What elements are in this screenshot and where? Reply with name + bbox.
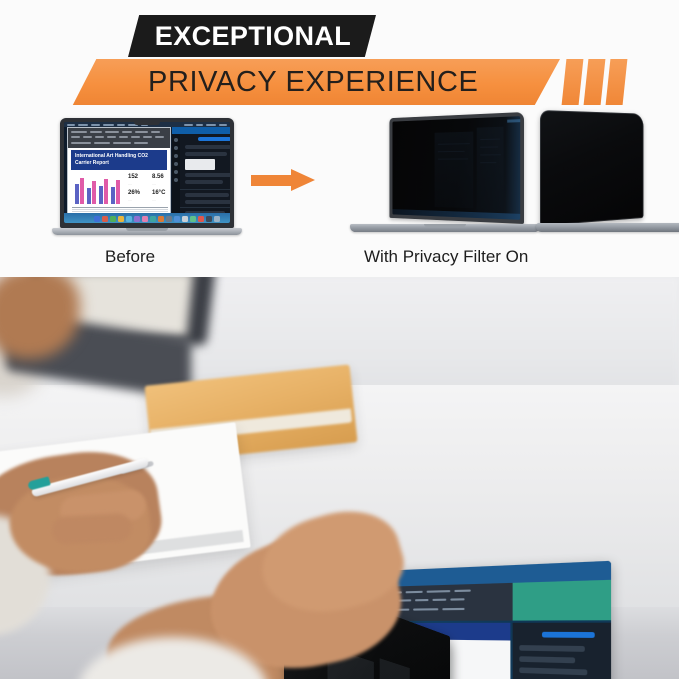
screen-rim — [540, 110, 643, 226]
after-laptop-angled — [350, 112, 540, 246]
webcam-notch-icon — [134, 122, 160, 125]
screen-chat-panel — [513, 623, 611, 679]
document-window: International Art Handling CO2 Carrier R… — [67, 127, 171, 222]
report-title: International Art Handling CO2 Carrier R… — [71, 150, 167, 170]
before-laptop-base — [52, 228, 242, 235]
eyebrow-text: EXCEPTIONAL — [153, 23, 351, 50]
after-laptop-side-base — [535, 223, 679, 232]
document-toolbar — [68, 128, 170, 148]
stat-value: 26% — [128, 190, 140, 196]
before-laptop-lid: International Art Handling CO2 Carrier R… — [60, 118, 234, 228]
after-laptop-side-lid — [540, 110, 643, 226]
chat-sidebar-rail — [172, 134, 180, 222]
report-stats: 152 8.56 ···· ···· 26% 16°C ···· ···· — [128, 174, 172, 206]
after-laptop-base — [350, 224, 540, 232]
right-arrow-icon — [251, 169, 316, 191]
accent-slash-icon — [584, 59, 606, 105]
after-laptop-side — [540, 110, 679, 246]
after-laptop-lid — [389, 112, 524, 224]
eyebrow-banner: EXCEPTIONAL — [128, 15, 376, 57]
laptop-notch — [126, 228, 168, 231]
lifestyle-photo — [0, 277, 679, 679]
screen-accent-panel — [513, 580, 611, 621]
left-hand-finger — [51, 513, 132, 545]
before-laptop-screen: International Art Handling CO2 Carrier R… — [64, 122, 230, 223]
chat-header — [172, 127, 230, 134]
report-bar-chart — [73, 176, 125, 204]
product-marketing-image: EXCEPTIONAL PRIVACY EXPERIENCE — [0, 0, 679, 679]
laptop-notch — [424, 224, 466, 227]
chat-attachment-card — [185, 159, 215, 170]
caption-after: With Privacy Filter On — [364, 247, 528, 267]
after-laptop-screen-dimmed — [392, 116, 520, 220]
stat-value: 16°C — [152, 190, 165, 196]
accent-slash-icon — [562, 59, 584, 105]
dock — [64, 213, 230, 223]
accent-slash-icon — [606, 59, 628, 105]
before-laptop: International Art Handling CO2 Carrier R… — [52, 118, 242, 246]
headline-text: PRIVACY EXPERIENCE — [148, 59, 478, 105]
stat-value: 152 — [128, 174, 138, 180]
comparison-section: EXCEPTIONAL PRIVACY EXPERIENCE — [0, 0, 679, 278]
chat-panel — [172, 127, 230, 222]
caption-before: Before — [105, 247, 155, 267]
stat-value: 8.56 — [152, 174, 164, 180]
